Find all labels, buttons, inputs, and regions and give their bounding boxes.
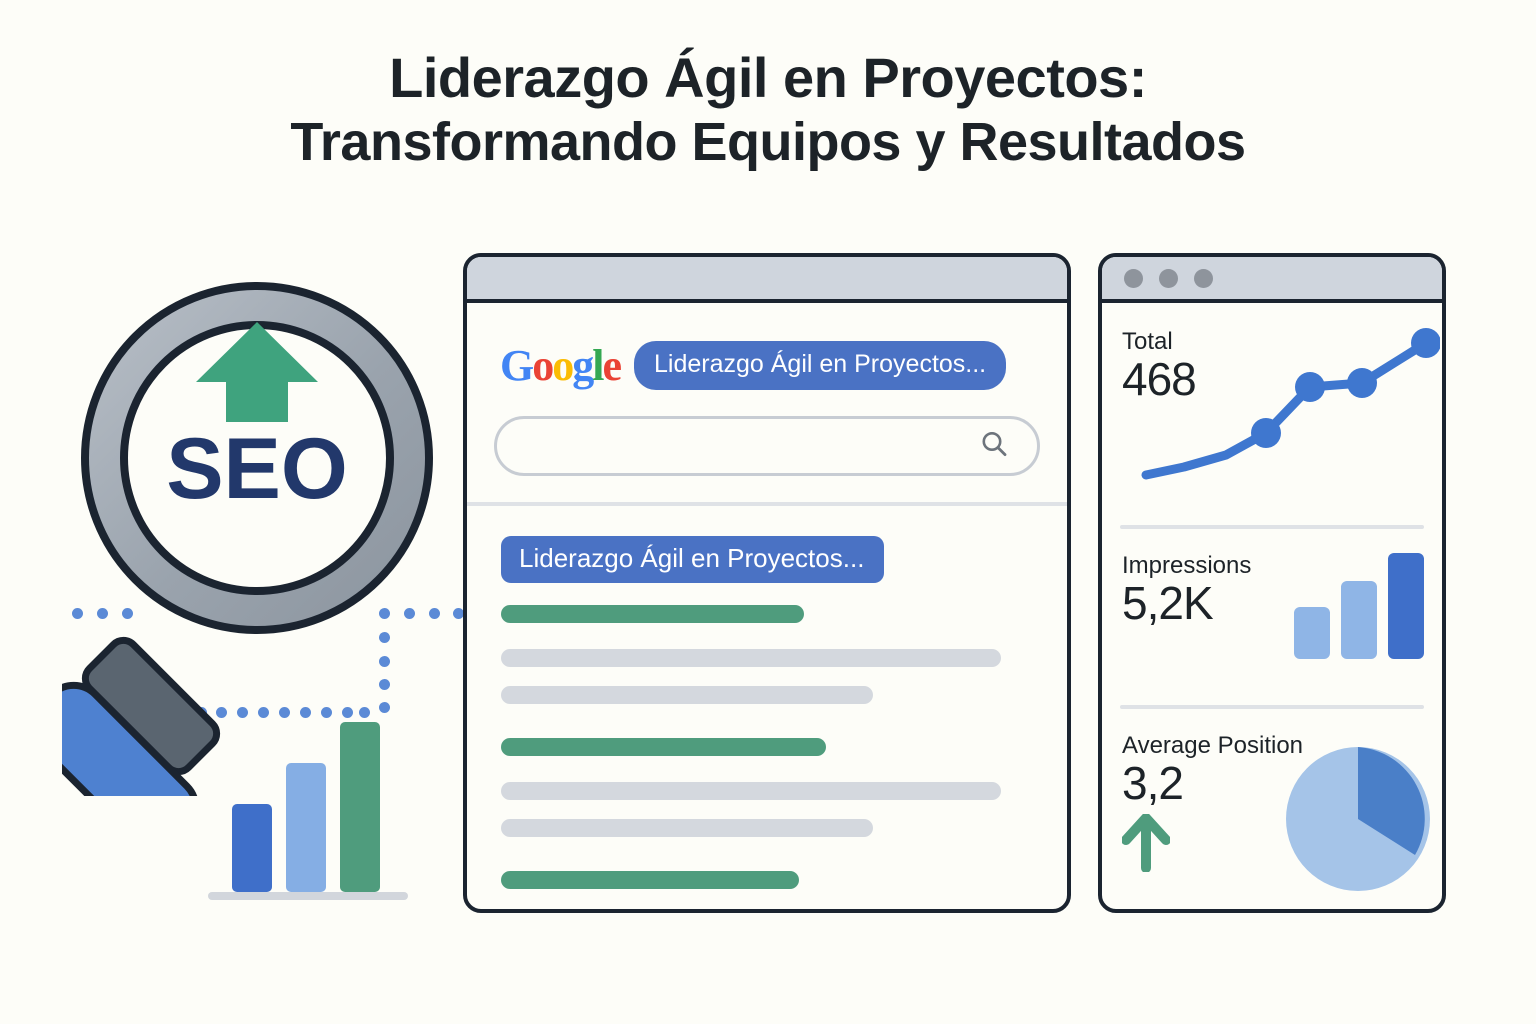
search-query-pill[interactable]: Liderazgo Ágil en Proyectos... bbox=[634, 341, 1006, 390]
average-position-pie-chart bbox=[1284, 745, 1432, 898]
search-icon[interactable] bbox=[979, 429, 1009, 464]
seo-dashboard-window: Total 468 Impressions 5,2K Average Posit… bbox=[1098, 253, 1446, 913]
dashboard-window-titlebar bbox=[1102, 257, 1442, 303]
result-line bbox=[501, 738, 826, 756]
google-search-window: Google Liderazgo Ágil en Proyectos... Li… bbox=[463, 253, 1071, 913]
total-line-chart bbox=[1140, 327, 1440, 492]
result-line bbox=[501, 649, 1001, 667]
google-logo-letter-o1: o bbox=[532, 341, 552, 390]
page-title-line-2: Transformando Equipos y Resultados bbox=[0, 111, 1536, 174]
google-logo: Google bbox=[500, 344, 620, 388]
window-dot-3[interactable] bbox=[1194, 269, 1213, 288]
impressions-bar-chart bbox=[1294, 553, 1424, 659]
mini-bar-1 bbox=[232, 804, 272, 892]
page-title: Liderazgo Ágil en Proyectos: Transforman… bbox=[0, 46, 1536, 174]
result-title-pill[interactable]: Liderazgo Ágil en Proyectos... bbox=[501, 536, 884, 583]
page-title-line-1: Liderazgo Ágil en Proyectos: bbox=[0, 46, 1536, 111]
metric-average-position: Average Position 3,2 bbox=[1102, 709, 1442, 913]
metric-total: Total 468 bbox=[1102, 303, 1442, 525]
search-input[interactable] bbox=[494, 416, 1040, 476]
mini-bar-2 bbox=[286, 763, 326, 892]
magnifier-illustration: SEO bbox=[62, 236, 482, 796]
result-line bbox=[501, 782, 1001, 800]
mini-bar-chart bbox=[200, 730, 420, 910]
window-dot-2[interactable] bbox=[1159, 269, 1178, 288]
google-logo-letter-o2: o bbox=[552, 341, 572, 390]
impressions-bar-1 bbox=[1294, 607, 1330, 659]
impressions-bar-3 bbox=[1388, 553, 1424, 659]
mini-bar-3 bbox=[340, 722, 380, 892]
seo-label: SEO bbox=[166, 421, 348, 517]
google-logo-letter-g: g bbox=[572, 341, 592, 390]
magnifier-handle bbox=[62, 635, 222, 796]
window-dot-1[interactable] bbox=[1124, 269, 1143, 288]
metric-impressions: Impressions 5,2K bbox=[1102, 529, 1442, 705]
google-logo-letter-l: l bbox=[592, 341, 602, 390]
result-line bbox=[501, 605, 804, 623]
google-logo-letter-e: e bbox=[602, 341, 620, 390]
google-logo-letter-G: G bbox=[500, 341, 532, 390]
search-results-list: Liderazgo Ágil en Proyectos... bbox=[467, 506, 1067, 913]
mini-chart-baseline bbox=[208, 892, 408, 900]
google-search-header: Google Liderazgo Ágil en Proyectos... bbox=[467, 303, 1067, 390]
result-line bbox=[501, 819, 873, 837]
google-window-titlebar bbox=[467, 257, 1067, 303]
result-line bbox=[501, 871, 799, 889]
result-line bbox=[501, 686, 873, 704]
impressions-bar-2 bbox=[1341, 581, 1377, 659]
